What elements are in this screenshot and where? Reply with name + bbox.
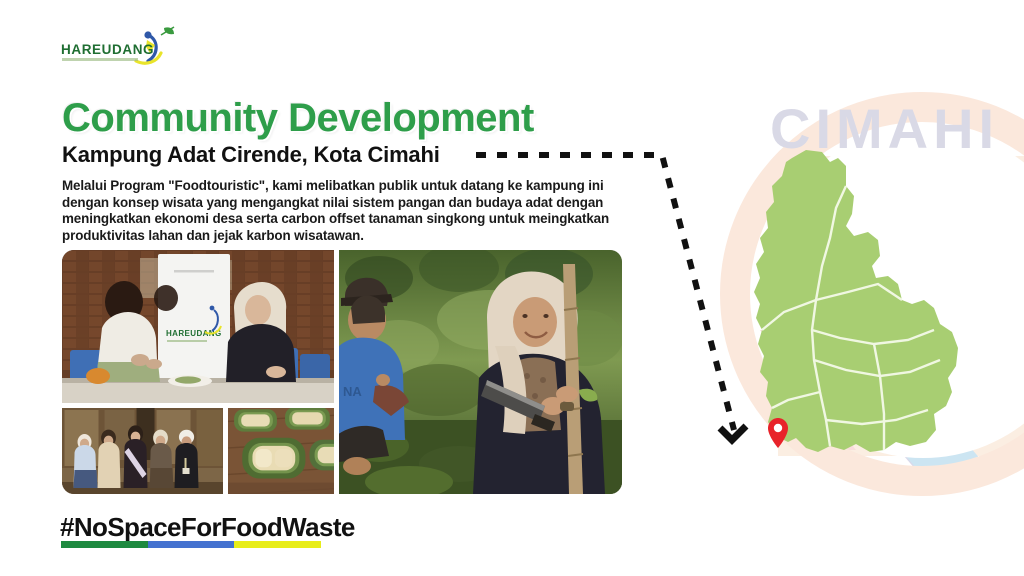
rule-segment-blue: [148, 541, 235, 548]
page-title: Community Development: [62, 96, 534, 141]
tricolor-rule: [61, 541, 321, 548]
rule-segment-green: [61, 541, 148, 548]
collage-left-bottom-row: [62, 408, 334, 494]
rule-segment-yellow: [234, 541, 321, 548]
hashtag-text: #NoSpaceForFoodWaste: [60, 512, 355, 543]
page-subtitle: Kampung Adat Cirende, Kota Cimahi: [62, 142, 440, 168]
slide-canvas: CIMAHI SALUYU NGAWANGUN JATI MANDIRI: [0, 0, 1024, 576]
description-paragraph: Melalui Program "Foodtouristic", kami me…: [62, 178, 618, 244]
photo-collage: HAREUDANG: [62, 250, 622, 494]
logo-wordmark: HAREUDANG: [61, 42, 154, 57]
collage-right-column: NA: [339, 250, 622, 494]
photo-food-banana-leaf[interactable]: [228, 408, 334, 494]
svg-text:NA: NA: [343, 384, 362, 399]
photo-group-adat[interactable]: [62, 408, 223, 494]
photo-cassava-planting[interactable]: NA: [339, 250, 622, 494]
hareudang-logo[interactable]: HAREUDANG: [58, 22, 178, 70]
cimahi-map-shape: [640, 0, 1024, 576]
map-pin: [768, 418, 788, 448]
photo-cooking-demo[interactable]: HAREUDANG: [62, 250, 334, 403]
map-decoration-panel: CIMAHI SALUYU NGAWANGUN JATI MANDIRI: [640, 0, 1024, 576]
collage-left-column: HAREUDANG: [62, 250, 334, 494]
